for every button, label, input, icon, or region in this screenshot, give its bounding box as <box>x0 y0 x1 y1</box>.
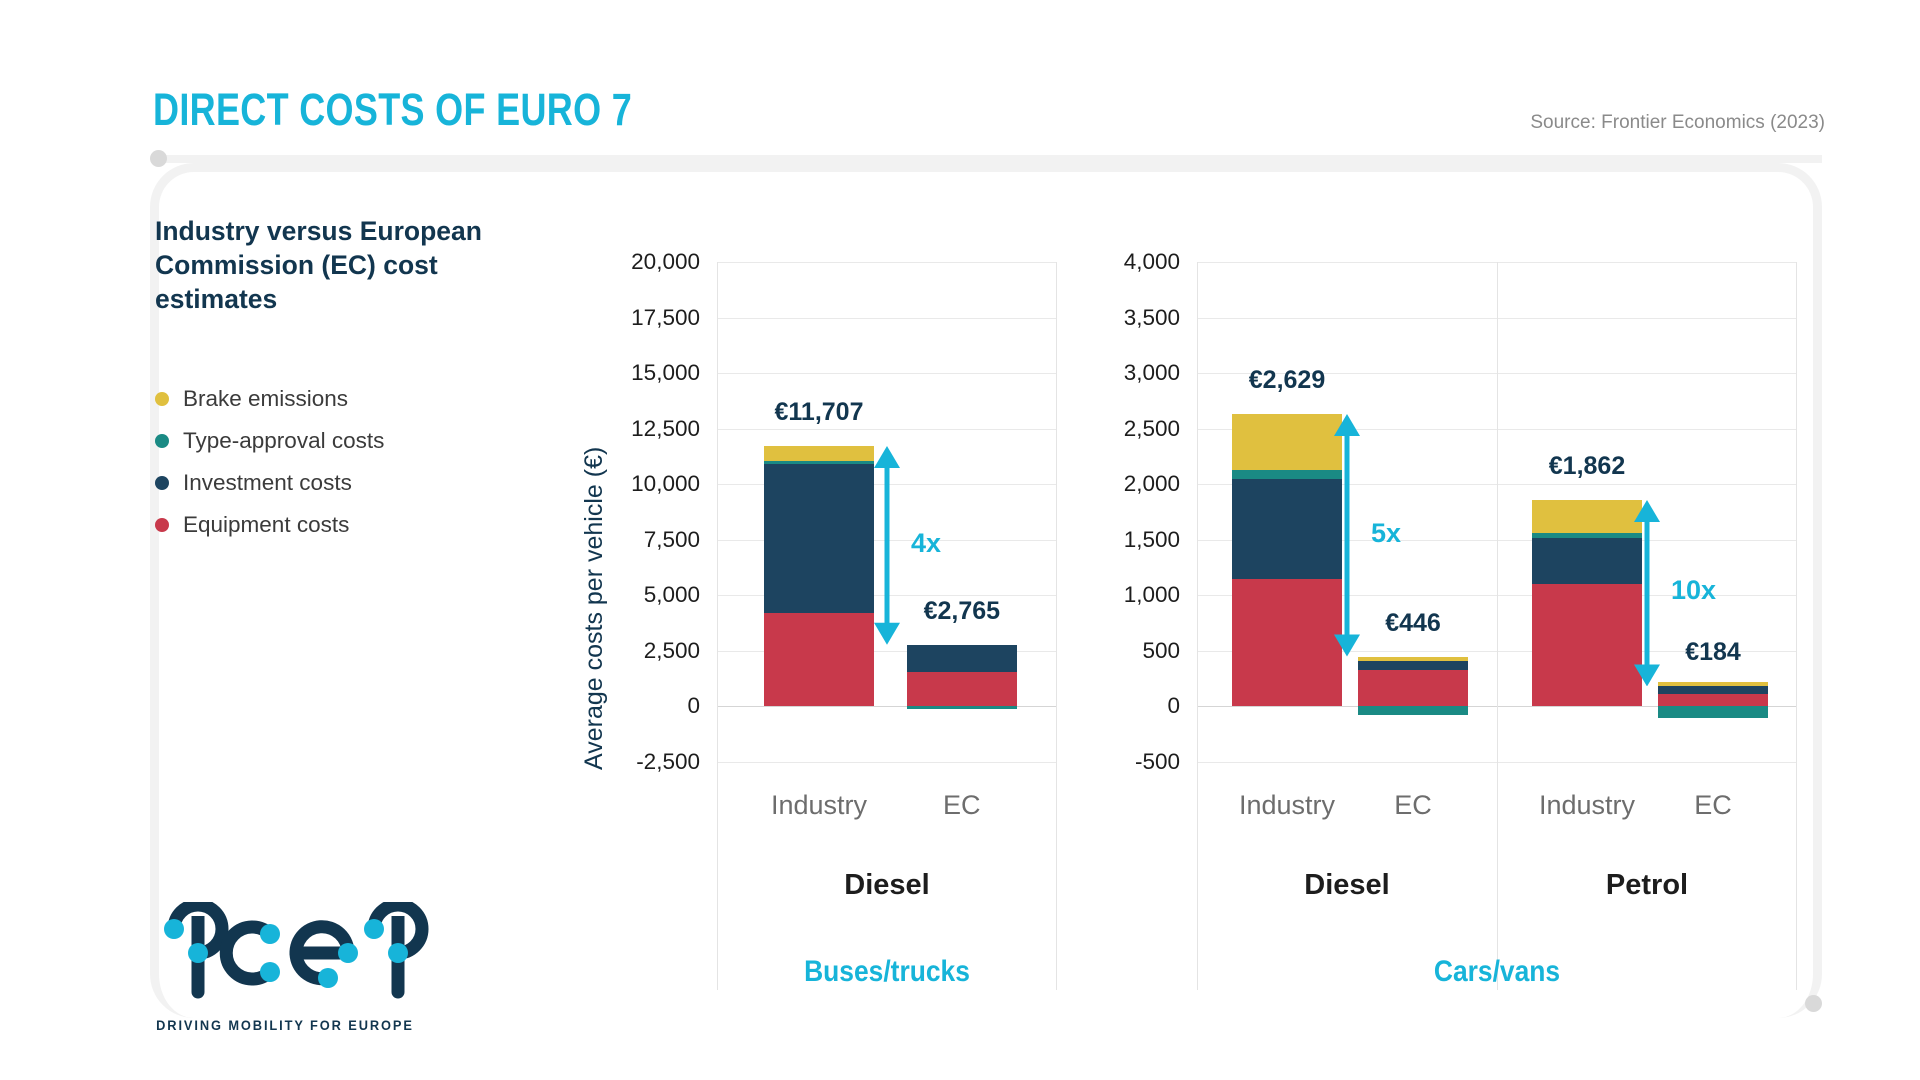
header-divider <box>158 155 1822 163</box>
bar-segment-type-approval-costs <box>1532 533 1642 538</box>
bar-buses-trucks-diesel-ec[interactable] <box>907 262 1017 762</box>
group-title-cars-vans: Cars/vans <box>1434 955 1560 989</box>
bar-buses-trucks-diesel-industry[interactable] <box>764 262 874 762</box>
bar-segment-brake-emissions <box>764 446 874 461</box>
acea-logo <box>152 902 432 1006</box>
multiplier-arrow <box>1330 414 1364 657</box>
bar-value-label: €11,707 <box>775 398 864 427</box>
legend-swatch-brake-emissions <box>155 392 169 406</box>
bar-cars-vans-petrol-industry[interactable] <box>1532 262 1642 762</box>
category-label-ec: EC <box>943 790 981 821</box>
y-axis-tick-label: 500 <box>1142 638 1180 664</box>
category-label-ec: EC <box>1394 790 1432 821</box>
category-label-industry: Industry <box>1239 790 1335 821</box>
page-title: DIRECT COSTS OF EURO 7 <box>153 84 632 136</box>
bar-segment-brake-emissions <box>1658 682 1768 686</box>
legend-item: Investment costs <box>155 462 384 504</box>
source-note: Source: Frontier Economics (2023) <box>1530 112 1825 134</box>
bar-segment-investment-costs <box>907 645 1017 672</box>
bar-segment-equipment-costs <box>1532 584 1642 706</box>
bar-value-label: €446 <box>1385 609 1441 638</box>
y-axis-tick-label: 17,500 <box>631 305 700 331</box>
bar-segment-equipment-costs <box>1658 694 1768 706</box>
y-axis-tick-label: 5,000 <box>644 582 700 608</box>
bar-cars-vans-diesel-industry[interactable] <box>1232 262 1342 762</box>
multiplier-arrow <box>1630 500 1664 686</box>
bar-segment-equipment-costs <box>764 613 874 706</box>
y-axis-tick-label: 10,000 <box>631 471 700 497</box>
legend: Brake emissions Type-approval costs Inve… <box>155 378 384 546</box>
multiplier-label: 10x <box>1671 575 1716 606</box>
legend-item-label: Investment costs <box>183 470 352 496</box>
y-axis-tick-label: 20,000 <box>631 249 700 275</box>
y-axis-tick-label: -500 <box>1135 749 1180 775</box>
bar-segment-brake-emissions <box>1532 500 1642 533</box>
legend-swatch-investment-costs <box>155 476 169 490</box>
y-axis-tick-label: 7,500 <box>644 527 700 553</box>
y-axis-tick-label: 0 <box>1167 693 1180 719</box>
category-label-industry: Industry <box>1539 790 1635 821</box>
fuel-group-separator <box>1497 262 1498 990</box>
legend-swatch-equipment-costs <box>155 518 169 532</box>
bar-segment-equipment-costs <box>1232 579 1342 707</box>
bar-value-label: €2,629 <box>1249 366 1325 395</box>
fuel-label-petrol: Petrol <box>1606 869 1688 902</box>
legend-item-label: Brake emissions <box>183 386 348 412</box>
bar-segment-investment-costs <box>1532 538 1642 585</box>
bar-segment-brake-emissions <box>1232 414 1342 470</box>
bar-segment-type-approval-costs <box>1358 706 1468 714</box>
multiplier-label: 5x <box>1371 518 1401 549</box>
legend-item: Equipment costs <box>155 504 384 546</box>
y-axis-tick-label: 1,000 <box>1124 582 1180 608</box>
bar-segment-type-approval-costs <box>1658 706 1768 717</box>
multiplier-arrow <box>870 446 904 645</box>
group-title-buses-trucks: Buses/trucks <box>804 955 970 989</box>
bar-segment-brake-emissions <box>1358 657 1468 661</box>
acea-tagline: DRIVING MOBILITY FOR EUROPE <box>152 1018 418 1033</box>
bar-cars-vans-diesel-ec[interactable] <box>1358 262 1468 762</box>
legend-item-label: Equipment costs <box>183 512 349 538</box>
bar-cars-vans-petrol-ec[interactable] <box>1658 262 1768 762</box>
bar-value-label: €1,862 <box>1549 452 1625 481</box>
bar-segment-investment-costs <box>1658 686 1768 694</box>
y-axis-title: Average costs per vehicle (€) <box>580 447 609 770</box>
bar-segment-equipment-costs <box>907 672 1017 706</box>
bar-segment-investment-costs <box>1358 661 1468 670</box>
y-axis-tick-label: 3,000 <box>1124 360 1180 386</box>
fuel-label-diesel: Diesel <box>844 869 929 902</box>
y-axis-tick-label: 2,500 <box>644 638 700 664</box>
y-axis-tick-label: 2,000 <box>1124 471 1180 497</box>
y-axis-tick-label: 2,500 <box>1124 416 1180 442</box>
category-label-ec: EC <box>1694 790 1732 821</box>
y-axis-tick-label: 3,500 <box>1124 305 1180 331</box>
y-axis-tick-label: 4,000 <box>1124 249 1180 275</box>
bar-segment-type-approval-costs <box>1232 470 1342 478</box>
y-axis-tick-label: 0 <box>687 693 700 719</box>
y-axis-tick-label: 1,500 <box>1124 527 1180 553</box>
bar-segment-type-approval-costs <box>764 461 874 464</box>
category-label-industry: Industry <box>771 790 867 821</box>
y-axis-tick-label: 15,000 <box>631 360 700 386</box>
y-axis-tick-label: 12,500 <box>631 416 700 442</box>
bar-value-label: €2,765 <box>924 597 1000 626</box>
multiplier-label: 4x <box>911 528 941 559</box>
legend-item: Type-approval costs <box>155 420 384 462</box>
bar-segment-type-approval-costs <box>907 706 1017 709</box>
frame-dot-left <box>150 150 167 167</box>
legend-item: Brake emissions <box>155 378 384 420</box>
bar-segment-equipment-costs <box>1358 670 1468 707</box>
legend-swatch-type-approval-costs <box>155 434 169 448</box>
y-axis-tick-label: -2,500 <box>636 749 700 775</box>
bar-segment-investment-costs <box>1232 479 1342 579</box>
chart-subtitle: Industry versus European Commission (EC)… <box>155 215 535 317</box>
legend-item-label: Type-approval costs <box>183 428 384 454</box>
bar-segment-investment-costs <box>764 464 874 613</box>
frame-dot-right <box>1805 995 1822 1012</box>
bar-value-label: €184 <box>1685 638 1741 667</box>
fuel-label-diesel: Diesel <box>1304 869 1389 902</box>
